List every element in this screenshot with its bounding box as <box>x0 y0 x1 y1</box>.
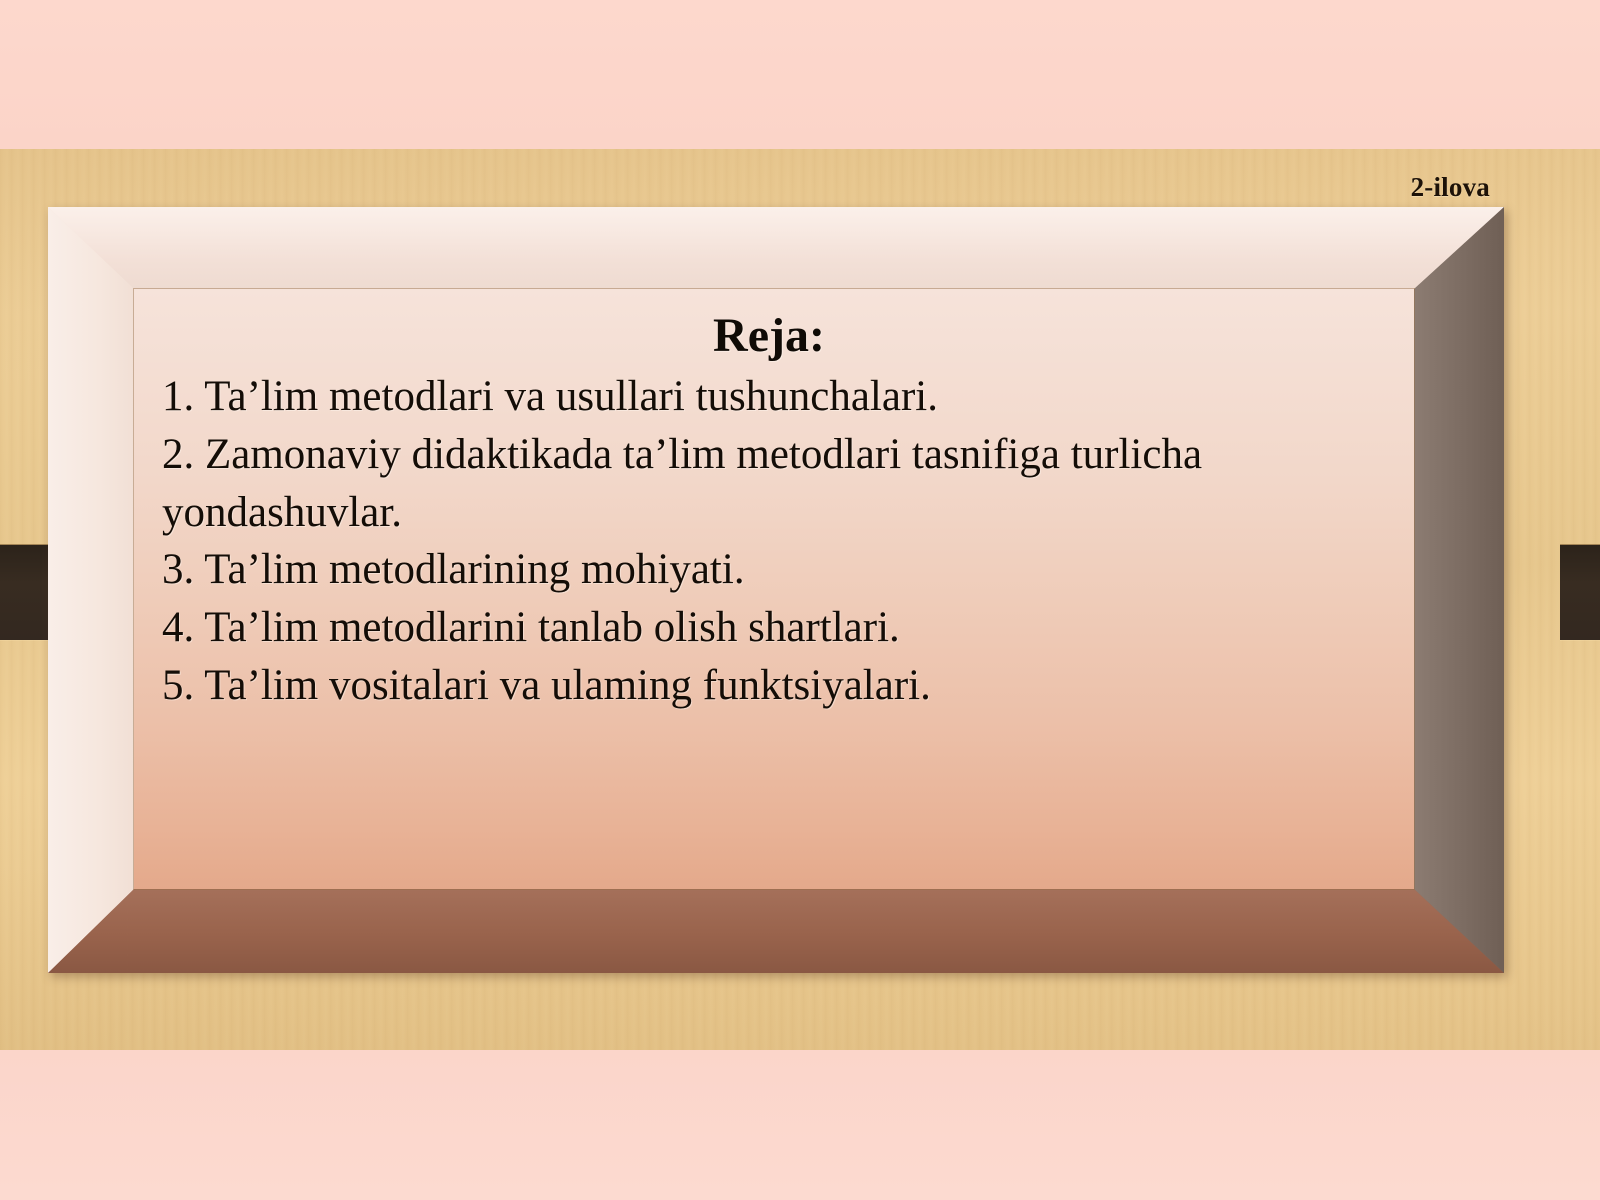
slide-canvas: 2-ilova Reja: 1. Ta’lim metodlari va usu… <box>0 0 1600 1200</box>
page-title: Reja: <box>150 311 1388 362</box>
plan-list: 1. Ta’lim metodlari va usullari tushunch… <box>150 368 1388 715</box>
frame-bevel-left <box>48 207 134 973</box>
slide-content-area: Reja: 1. Ta’lim metodlari va usullari tu… <box>134 289 1414 889</box>
picture-frame: Reja: 1. Ta’lim metodlari va usullari tu… <box>48 207 1504 973</box>
list-item: 4. Ta’lim metodlarini tanlab olish shart… <box>162 599 1388 657</box>
list-item: 1. Ta’lim metodlari va usullari tushunch… <box>162 368 1388 426</box>
decorative-stripe-left <box>0 545 48 640</box>
decorative-stripe-right <box>1560 545 1600 640</box>
frame-bevel-top <box>48 207 1504 289</box>
attachment-label: 2-ilova <box>1411 172 1490 203</box>
list-item: 2. Zamonaviy didaktikada ta’lim metodlar… <box>162 426 1388 542</box>
frame-bevel-bottom <box>48 889 1504 973</box>
list-item: 5. Ta’lim vositalari va ulaming funktsiy… <box>162 657 1388 715</box>
background-pink-top <box>0 0 1600 149</box>
background-pink-bottom <box>0 1050 1600 1200</box>
frame-bevel-right <box>1414 207 1504 973</box>
list-item: 3. Ta’lim metodlarining mohiyati. <box>162 541 1388 599</box>
